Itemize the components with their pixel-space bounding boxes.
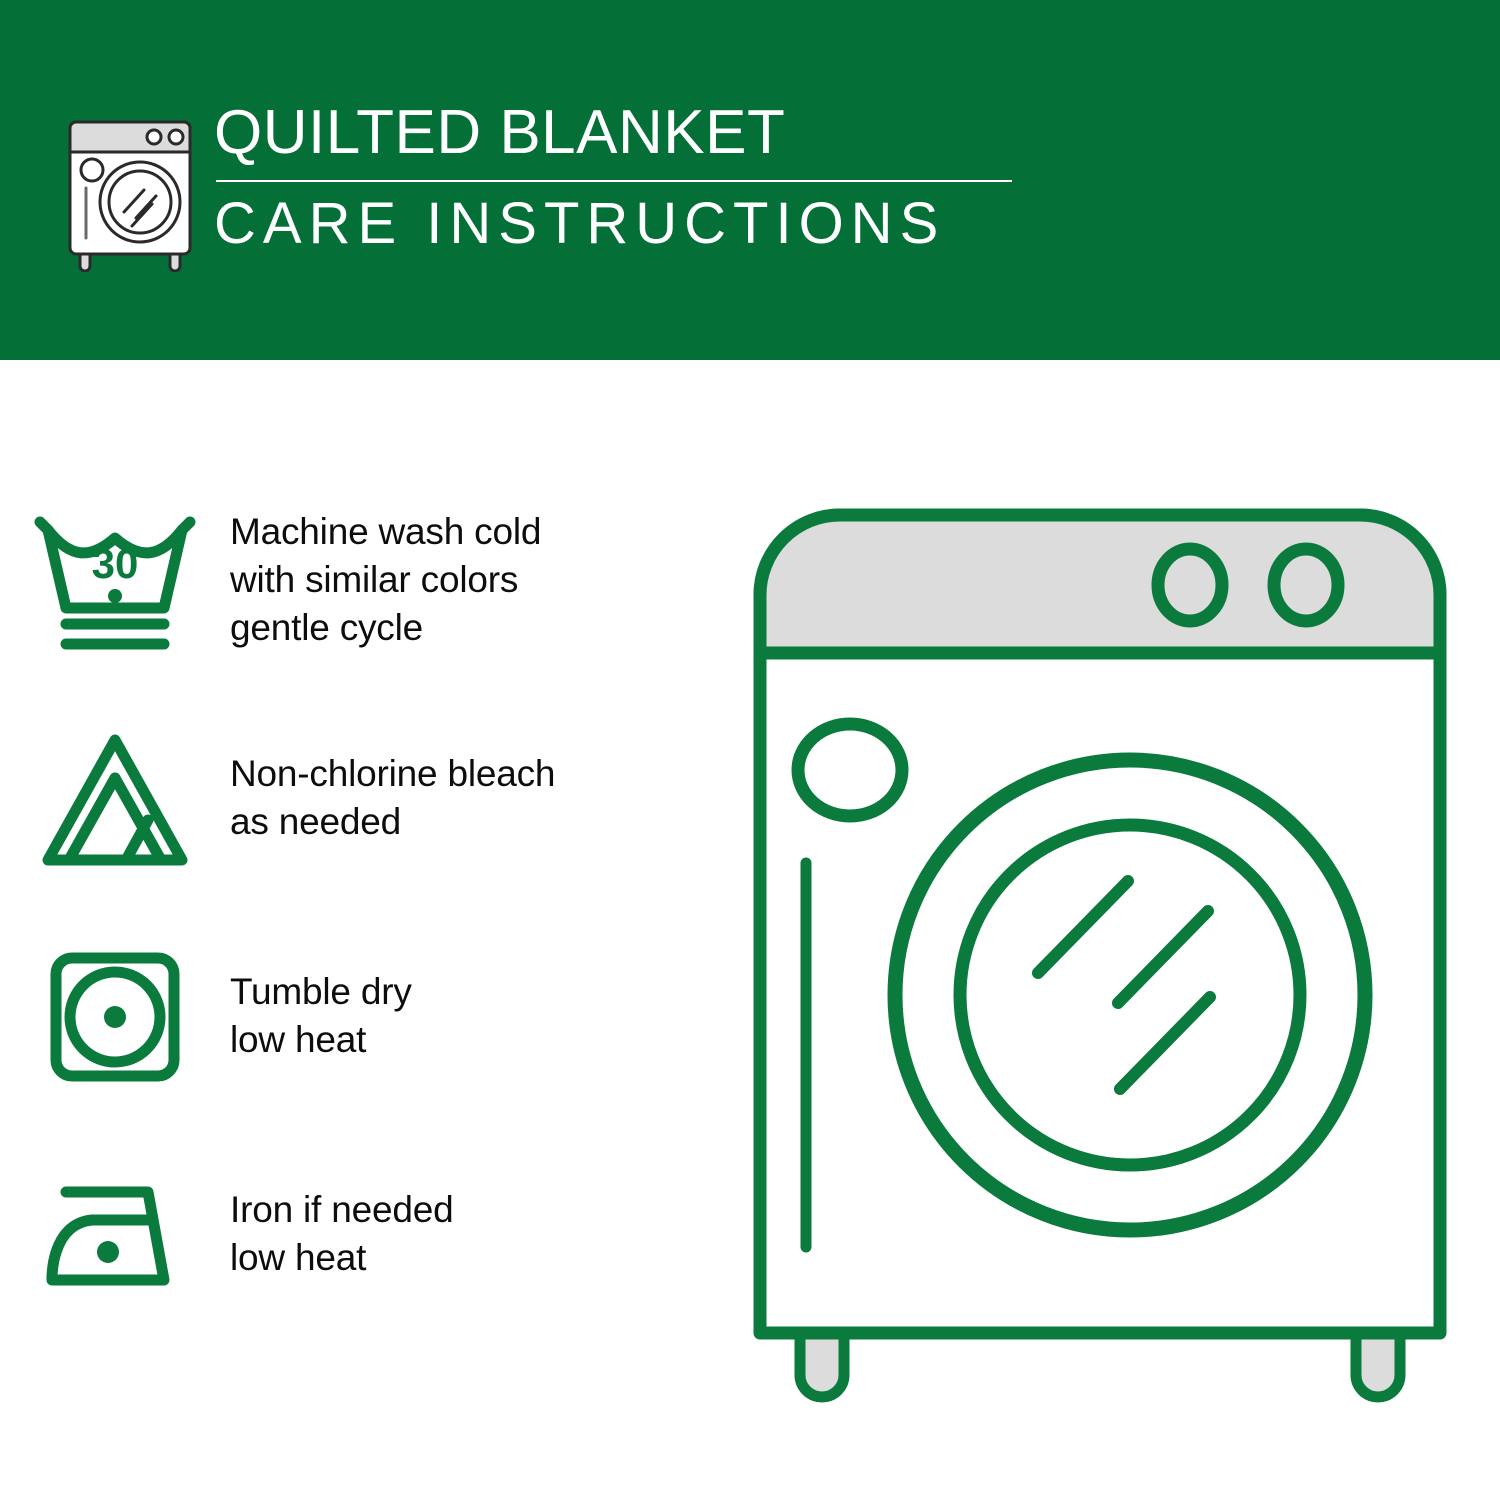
header-text-block: QUILTED BLANKET CARE INSTRUCTIONS — [214, 96, 1014, 256]
instruction-line: with similar colors — [230, 556, 541, 604]
non-chlorine-bleach-triangle-icon — [0, 718, 230, 878]
instruction-line: Tumble dry — [230, 968, 412, 1016]
control-knob — [1158, 549, 1222, 621]
instruction-line: gentle cycle — [230, 604, 541, 652]
page-title: QUILTED BLANKET — [214, 96, 1014, 170]
instruction-line: Machine wash cold — [230, 508, 541, 556]
instruction-line: Iron if needed — [230, 1186, 453, 1234]
washing-machine-icon — [60, 104, 200, 272]
front-load-washing-machine-illustration — [740, 495, 1460, 1435]
instruction-line: low heat — [230, 1016, 412, 1064]
instruction-label-bleach: Non-chlorine bleach as needed — [230, 750, 555, 846]
instruction-label-wash: Machine wash cold with similar colors ge… — [230, 508, 541, 652]
instruction-line: Non-chlorine bleach — [230, 750, 555, 798]
wash-temperature-value: 30 — [92, 540, 139, 587]
instruction-row-iron: Iron if needed low heat — [0, 1154, 720, 1314]
instruction-label-iron: Iron if needed low heat — [230, 1186, 453, 1282]
instruction-line: low heat — [230, 1234, 453, 1282]
instruction-label-tumble-dry: Tumble dry low heat — [230, 968, 412, 1064]
iron-low-heat-icon — [0, 1154, 230, 1314]
detergent-dial — [798, 724, 902, 816]
instruction-line: as needed — [230, 798, 555, 846]
header-band: QUILTED BLANKET CARE INSTRUCTIONS — [0, 0, 1500, 360]
instruction-row-bleach: Non-chlorine bleach as needed — [0, 718, 720, 878]
page-subtitle: CARE INSTRUCTIONS — [214, 192, 1014, 256]
instruction-list: 30 Machine wash cold with similar colors… — [0, 500, 720, 1314]
instruction-row-tumble-dry: Tumble dry low heat — [0, 936, 720, 1096]
header-divider — [216, 180, 1012, 182]
tumble-dry-low-icon — [0, 936, 230, 1096]
control-knob — [1274, 549, 1338, 621]
wash-tub-30-gentle-icon: 30 — [0, 500, 230, 660]
instruction-row-wash: 30 Machine wash cold with similar colors… — [0, 500, 720, 660]
